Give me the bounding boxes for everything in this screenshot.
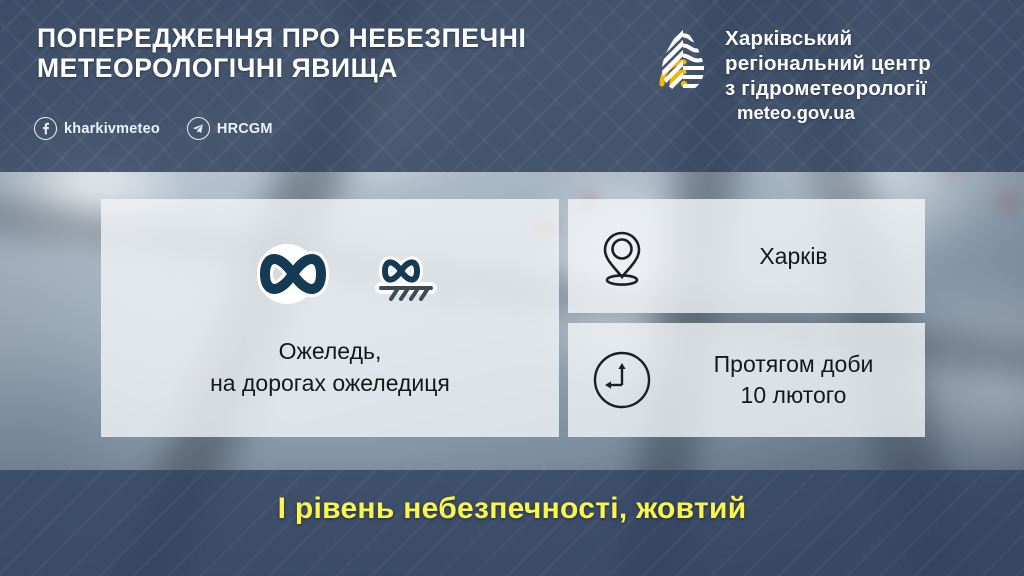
telegram-icon: [187, 117, 210, 140]
detail-row-location: Харків: [568, 199, 925, 313]
danger-level-text: I рівень небезпечності, жовтий: [278, 492, 747, 526]
social-links: kharkivmeteo HRCGM: [34, 117, 273, 140]
brand-website-url[interactable]: meteo.gov.ua: [725, 101, 931, 124]
time-text: Протягом доби 10 лютого: [676, 349, 925, 411]
social-link-facebook[interactable]: kharkivmeteo: [34, 117, 160, 140]
page-title-line2: МЕТЕОРОЛОГІЧНІ ЯВИЩА: [37, 53, 677, 83]
social-link-telegram[interactable]: HRCGM: [187, 117, 273, 140]
brand-line-3: з гідрометеорології: [725, 76, 931, 101]
hydrometeorology-droplet-logo: [654, 22, 712, 110]
details-panel: Харків Протягом доби 10 лютого: [568, 199, 925, 437]
facebook-handle: kharkivmeteo: [64, 121, 160, 137]
telegram-handle: HRCGM: [217, 121, 273, 137]
hazard-text-line2: на дорогах ожеледиця: [210, 367, 450, 399]
time-line2: 10 лютого: [676, 380, 911, 411]
page-title-line1: ПОПЕРЕДЖЕННЯ ПРО НЕБЕЗПЕЧНІ: [37, 23, 526, 53]
hazard-card: Ожеледь, на дорогах ожеледиця: [101, 199, 559, 437]
time-line1: Протягом доби: [714, 351, 874, 377]
footer-band: I рівень небезпечності, жовтий: [0, 470, 1024, 576]
page-title: ПОПЕРЕДЖЕННЯ ПРО НЕБЕЗПЕЧНІ МЕТЕОРОЛОГІЧ…: [37, 23, 677, 83]
infographic-canvas: ПОПЕРЕДЖЕННЯ ПРО НЕБЕЗПЕЧНІ МЕТЕОРОЛОГІЧ…: [0, 0, 1024, 576]
road-ice-icon: [375, 251, 441, 305]
brand-text-block: Харківський регіональний центр з гідроме…: [725, 22, 931, 124]
location-text: Харків: [676, 241, 925, 272]
hazard-text-line1: Ожеледь,: [279, 338, 382, 364]
hazard-icon-group: [219, 243, 441, 305]
hazard-description: Ожеледь, на дорогах ожеледиця: [210, 335, 450, 399]
facebook-icon: [34, 117, 57, 140]
glaze-ice-icon: [219, 243, 367, 305]
clock-icon: [568, 349, 676, 411]
detail-row-time: Протягом доби 10 лютого: [568, 323, 925, 437]
header-band: ПОПЕРЕДЖЕННЯ ПРО НЕБЕЗПЕЧНІ МЕТЕОРОЛОГІЧ…: [0, 0, 1024, 172]
organization-brand[interactable]: Харківський регіональний центр з гідроме…: [654, 22, 931, 124]
location-line1: Харків: [759, 243, 827, 269]
brand-line-1: Харківський: [725, 26, 931, 51]
map-pin-icon: [568, 225, 676, 287]
brand-line-2: регіональний центр: [725, 51, 931, 76]
